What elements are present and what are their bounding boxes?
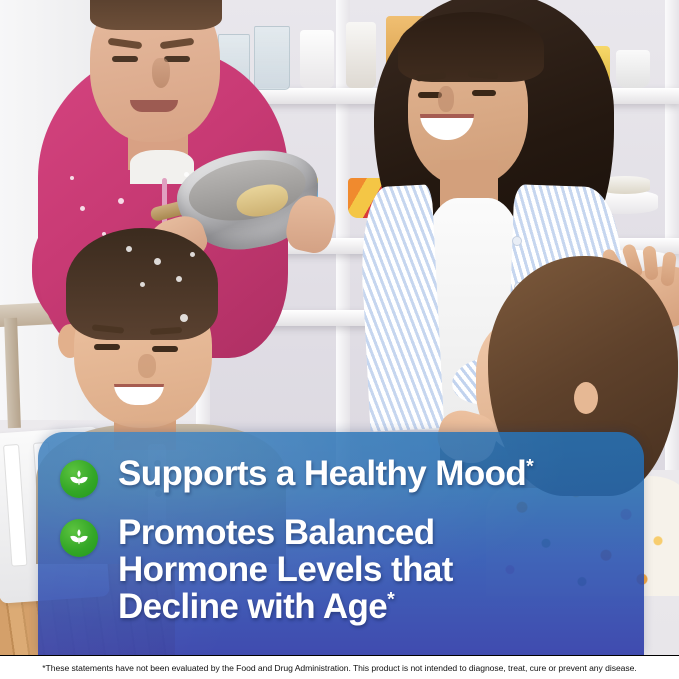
woman-eye-right bbox=[472, 90, 496, 96]
boy-eye-right bbox=[152, 346, 178, 352]
man-hair bbox=[90, 0, 222, 30]
disclaimer-text: *These statements have not been evaluate… bbox=[42, 663, 636, 673]
leaf-sprout-icon bbox=[60, 519, 98, 557]
flour-speck bbox=[70, 176, 74, 180]
woman-nose bbox=[438, 86, 454, 112]
girl-ear bbox=[574, 382, 598, 414]
boy-eye-left bbox=[94, 344, 120, 350]
man-mouth bbox=[130, 100, 178, 112]
man-eye-left bbox=[112, 56, 138, 62]
flour-speck bbox=[190, 252, 195, 257]
benefit-item-2: Promotes Balanced Hormone Levels that De… bbox=[60, 514, 453, 625]
flour-speck bbox=[154, 258, 161, 265]
disclaimer-bar: *These statements have not been evaluate… bbox=[0, 655, 679, 679]
asterisk-marker: * bbox=[387, 589, 394, 611]
asterisk-marker: * bbox=[526, 455, 533, 477]
man-nose bbox=[152, 58, 170, 88]
chair-slat-1 bbox=[3, 444, 27, 567]
benefits-panel: Supports a Healthy Mood* Promotes Balanc… bbox=[38, 432, 644, 655]
flour-speck bbox=[126, 246, 132, 252]
benefit-text-2: Promotes Balanced Hormone Levels that De… bbox=[118, 514, 453, 625]
leaf-sprout-icon bbox=[60, 460, 98, 498]
benefit-item-1: Supports a Healthy Mood* bbox=[60, 455, 533, 498]
kitchen-family-photo: Supports a Healthy Mood* Promotes Balanc… bbox=[0, 0, 679, 655]
flour-speck bbox=[118, 198, 124, 204]
benefit-text-1: Supports a Healthy Mood* bbox=[118, 455, 533, 492]
product-benefits-banner: Supports a Healthy Mood* Promotes Balanc… bbox=[0, 0, 679, 679]
flour-speck bbox=[80, 206, 85, 211]
flour-speck bbox=[180, 314, 188, 322]
woman-striped-shirt-left bbox=[358, 184, 445, 432]
flour-speck bbox=[176, 276, 182, 282]
shirt-button bbox=[512, 236, 522, 246]
flour-speck bbox=[140, 282, 145, 287]
boy-nose bbox=[138, 354, 156, 378]
